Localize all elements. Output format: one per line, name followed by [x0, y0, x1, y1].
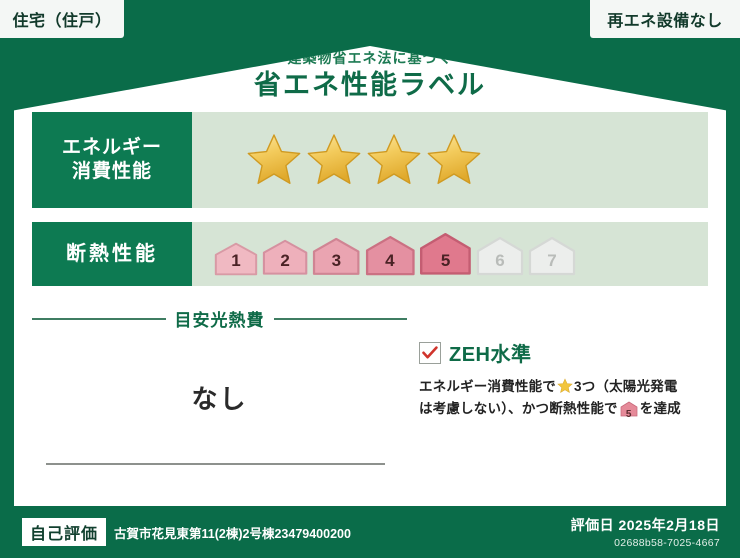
utility-cost-divider: [46, 463, 385, 465]
zeh-desc-part3: を達成: [640, 401, 681, 416]
utility-cost-heading: 目安光熱費: [32, 306, 407, 331]
insulation-level-7: 7: [528, 236, 576, 276]
insulation-scale: 1234567: [214, 232, 576, 276]
zeh-description: エネルギー消費性能で3つ（太陽光発電は考慮しない）、かつ断熱性能で5を達成: [419, 376, 708, 425]
heading-rule-right: [274, 318, 408, 320]
check-icon: [422, 346, 438, 360]
energy-consumption-label: エネルギー 消費性能: [32, 112, 192, 208]
utility-cost-heading-text: 目安光熱費: [175, 306, 265, 331]
insulation-performance-row: 断熱性能 1234567: [32, 222, 708, 286]
evaluation-id: 02688b58-7025-4667: [571, 537, 720, 549]
insulation-label: 断熱性能: [32, 222, 192, 286]
insulation-level-number: 5: [419, 251, 472, 271]
insulation-level-number: 6: [476, 251, 524, 271]
zeh-desc-stars: 3つ（太陽光発電: [574, 379, 678, 394]
energy-consumption-row: エネルギー 消費性能: [32, 112, 708, 208]
heading-rule-left: [32, 318, 166, 320]
energy-label-line1: エネルギー: [62, 136, 162, 160]
evaluation-date: 評価日 2025年2月18日: [571, 515, 720, 535]
utility-cost-value: なし: [32, 379, 407, 416]
star-icon: [426, 132, 482, 188]
insulation-level-number: 7: [528, 251, 576, 271]
insulation-level-number: 4: [365, 251, 416, 271]
inline-house-icon: 5: [620, 401, 638, 424]
page-title: 省エネ性能ラベル: [14, 69, 726, 101]
energy-label-line2: 消費性能: [72, 160, 152, 184]
insulation-level-2: 2: [262, 239, 308, 275]
zeh-desc-part1: エネルギー消費性能で: [419, 379, 556, 394]
inline-house-number: 5: [620, 407, 638, 424]
zeh-title: ZEH水準: [449, 338, 532, 367]
lower-section: 目安光熱費 なし ZEH水準: [32, 296, 708, 500]
insulation-level-3: 3: [312, 237, 360, 276]
zeh-standard-section: ZEH水準 エネルギー消費性能で3つ（太陽光発電は考慮しない）、かつ断熱性能で5…: [407, 296, 708, 500]
insulation-level-number: 2: [262, 251, 308, 271]
insulation-level-5: 5: [419, 232, 472, 276]
building-type-tag: 住宅（住戸）: [0, 0, 124, 38]
label-subtitle: 建築物省エネ法に基づく: [14, 50, 726, 67]
zeh-header: ZEH水準: [419, 338, 708, 367]
insulation-level-number: 1: [214, 251, 258, 271]
property-address: 古賀市花見東第11(2棟)2号棟23479400200: [114, 523, 351, 542]
self-evaluation-badge: 自己評価: [22, 518, 106, 546]
label-body-panel: 建築物省エネ法に基づく 省エネ性能ラベル エネルギー 消費性能 断熱性能 123…: [14, 46, 726, 506]
insulation-level-1: 1: [214, 242, 258, 276]
zeh-checkbox[interactable]: [419, 342, 441, 364]
star-icon: [366, 132, 422, 188]
star-icon: [557, 378, 573, 394]
energy-performance-label: 住宅（住戸） 再エネ設備なし 建築物省エネ法に基づく 省エネ性能ラベル エネルギ…: [0, 0, 740, 558]
insulation-level-4: 4: [365, 235, 416, 276]
renewable-energy-tag: 再エネ設備なし: [590, 0, 740, 38]
utility-cost-section: 目安光熱費 なし: [32, 296, 407, 500]
insulation-level-6: 6: [476, 236, 524, 276]
header-title-block: 建築物省エネ法に基づく 省エネ性能ラベル: [14, 46, 726, 101]
footer: 自己評価 古賀市花見東第11(2棟)2号棟23479400200 評価日 202…: [0, 506, 740, 558]
zeh-desc-part2: は考慮しない）、かつ断熱性能で: [419, 401, 618, 416]
star-icon: [246, 132, 302, 188]
star-icon: [306, 132, 362, 188]
star-rating: [246, 132, 482, 188]
insulation-level-number: 3: [312, 251, 360, 271]
